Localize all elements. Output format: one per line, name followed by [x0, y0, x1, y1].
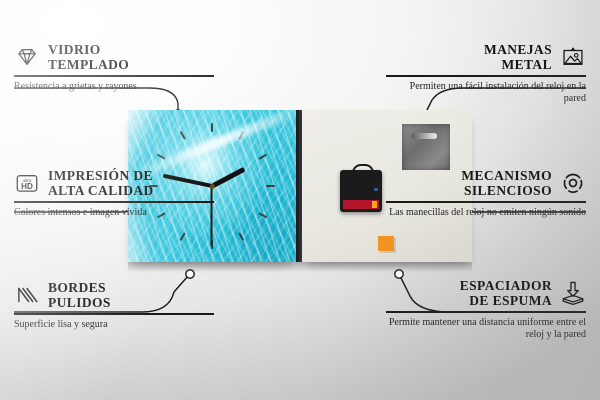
clock-tick [211, 123, 213, 132]
feature-description: Superficie lisa y segura [14, 319, 214, 332]
metal-hanger-plate [402, 124, 450, 170]
feature-title-line: ESPACIADOR [460, 278, 552, 293]
quartz-mechanism [340, 170, 382, 212]
feature-header: ESPACIADOR DE ESPUMA [386, 278, 586, 308]
feature-mecanismo-silencioso: MECANISMO SILENCIOSO Las manecillas del … [386, 168, 586, 219]
feature-title: IMPRESIÓN DE ALTA CALIDAD [48, 168, 154, 198]
feature-divider [14, 313, 214, 314]
clock-tick [266, 185, 275, 187]
polished-edges-icon [14, 282, 40, 308]
feature-impresion-alta-calidad: ultra HD IMPRESIÓN DE ALTA CALIDAD Color… [14, 168, 214, 219]
feature-header: ultra HD IMPRESIÓN DE ALTA CALIDAD [14, 168, 214, 198]
feature-title-line: SILENCIOSO [461, 183, 552, 198]
feature-title-line: DE ESPUMA [460, 293, 552, 308]
feature-divider [386, 311, 586, 312]
feature-description: Colores intensos e imagen vívida [14, 207, 214, 220]
feature-title-line: BORDES [48, 280, 111, 295]
feature-title: ESPACIADOR DE ESPUMA [460, 278, 552, 308]
feature-divider [386, 75, 586, 76]
feature-title-line: METAL [484, 57, 552, 72]
foam-spacer [378, 236, 394, 251]
feature-divider [14, 75, 214, 76]
feature-title: MECANISMO SILENCIOSO [461, 168, 552, 198]
clock-hour-hand [211, 167, 245, 188]
feature-title-line: MECANISMO [461, 168, 552, 183]
feature-header: VIDRIO TEMPLADO [14, 42, 214, 72]
feature-manejas-metal: MANEJAS METAL Permiten una fácil instala… [386, 42, 586, 106]
feature-vidrio-templado: VIDRIO TEMPLADO Resistencia a grietas y … [14, 42, 214, 93]
picture-hanger-icon [560, 44, 586, 70]
feature-description: Permiten una fácil instalación del reloj… [386, 81, 586, 106]
mechanism-battery [343, 200, 379, 209]
feature-divider [386, 201, 586, 202]
clock-tick [238, 131, 244, 140]
feature-description: Resistencia a grietas y rayones [14, 81, 214, 94]
feature-title-line: IMPRESIÓN DE [48, 168, 154, 183]
feature-bordes-pulidos: BORDES PULIDOS Superficie lisa y segura [14, 280, 214, 331]
feature-title-line: VIDRIO [48, 42, 129, 57]
feature-header: MECANISMO SILENCIOSO [386, 168, 586, 198]
infographic-canvas: VIDRIO TEMPLADO Resistencia a grietas y … [0, 0, 600, 400]
feature-title: MANEJAS METAL [484, 42, 552, 72]
foam-spacer-icon [560, 280, 586, 306]
ultra-hd-icon-main-text: HD [21, 182, 33, 191]
feature-title-line: TEMPLADO [48, 57, 129, 72]
feature-header: MANEJAS METAL [386, 42, 586, 72]
clock-tick [157, 154, 166, 160]
feature-title: BORDES PULIDOS [48, 280, 111, 310]
clock-tick [180, 131, 186, 140]
feature-title-line: MANEJAS [484, 42, 552, 57]
clock-tick [258, 212, 267, 218]
feature-title-line: PULIDOS [48, 295, 111, 310]
feature-title: VIDRIO TEMPLADO [48, 42, 129, 72]
ultra-hd-icon: ultra HD [14, 170, 40, 196]
feature-divider [14, 201, 214, 202]
mechanism-label [374, 188, 378, 191]
mechanism-hook [352, 164, 374, 175]
hanger-slot [411, 133, 437, 139]
clock-tick [258, 154, 267, 160]
product-shadow [128, 262, 472, 272]
clock-tick [180, 232, 186, 241]
clock-tick [238, 232, 244, 241]
feature-description: Permite mantener una distancia uniforme … [386, 317, 586, 342]
feature-espaciador-espuma: ESPACIADOR DE ESPUMA Permite mantener un… [386, 278, 586, 342]
gear-icon [560, 170, 586, 196]
feature-description: Las manecillas del reloj no emiten ningú… [386, 207, 586, 220]
feature-header: BORDES PULIDOS [14, 280, 214, 310]
feature-title-line: ALTA CALIDAD [48, 183, 154, 198]
diamond-icon [14, 44, 40, 70]
